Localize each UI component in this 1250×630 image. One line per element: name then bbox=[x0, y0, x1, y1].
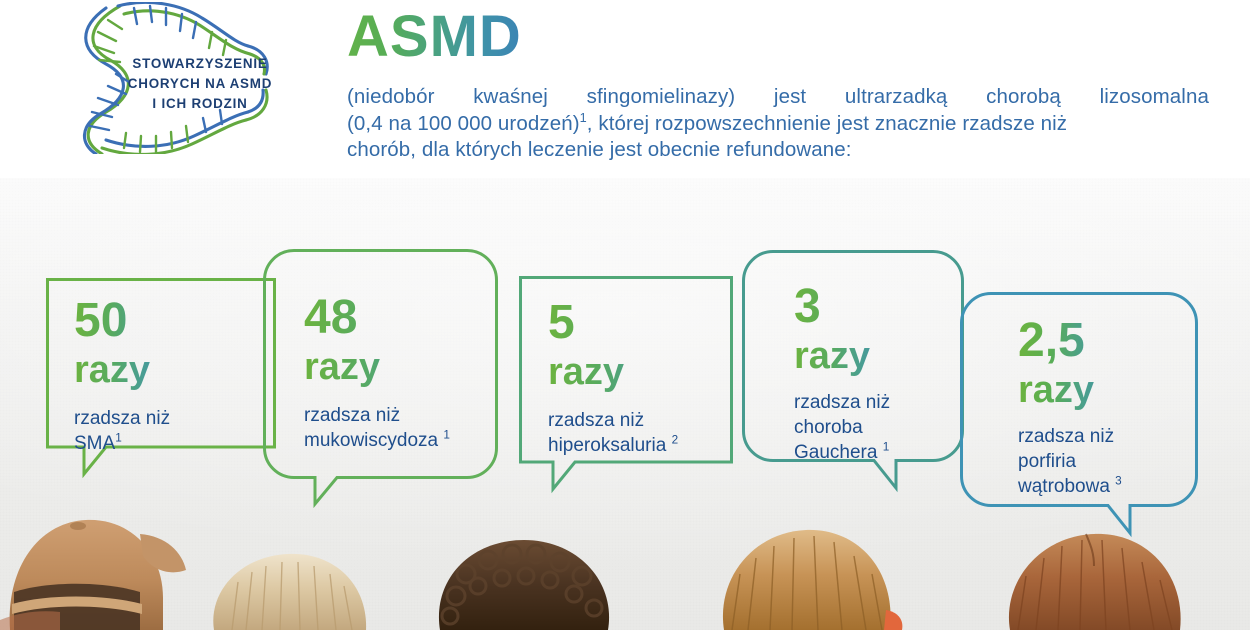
reference-superscript: 1 bbox=[115, 432, 122, 445]
reference-superscript: 1 bbox=[883, 441, 890, 454]
person-blonde-hair bbox=[213, 554, 366, 630]
intro-line-3: chorób, dla których leczenie jest obecni… bbox=[347, 137, 1209, 164]
person-dark-curly-hair bbox=[439, 540, 609, 630]
stat-bubble-mukowiscydoza[interactable]: 48 razy rzadsza niż mukowiscydoza 1 bbox=[263, 249, 498, 489]
stat-bubble-sma[interactable]: 50 razy rzadsza niż SMA1 bbox=[46, 278, 276, 478]
intro-word: chorobą bbox=[986, 84, 1061, 111]
people-illustration bbox=[0, 470, 1250, 630]
stat-unit: razy bbox=[548, 350, 678, 394]
reference-superscript: 1 bbox=[580, 110, 587, 125]
stat-unit: razy bbox=[304, 345, 450, 389]
intro-word: sfingomielinazy) bbox=[587, 84, 736, 111]
stat-unit: razy bbox=[1018, 368, 1122, 412]
person-auburn-hair bbox=[1009, 534, 1181, 630]
stat-unit: razy bbox=[794, 334, 890, 378]
stat-unit: razy bbox=[74, 348, 170, 392]
person-tan-cap bbox=[0, 520, 186, 630]
infographic-root: STOWARZYSZENIE CHORYCH NA ASMD I ICH ROD… bbox=[0, 0, 1250, 630]
intro-word: kwaśnej bbox=[473, 84, 548, 111]
logo-line-3: I ICH RODZIN bbox=[124, 94, 276, 114]
stat-number: 5 bbox=[548, 298, 678, 348]
stat-description: rzadsza niż SMA1 bbox=[74, 406, 170, 456]
reference-superscript: 1 bbox=[443, 429, 450, 442]
page-title: ASMD bbox=[347, 6, 522, 68]
person-light-brown-hair bbox=[723, 530, 902, 630]
intro-paragraph: (niedobórkwaśnejsfingomielinazy)jestultr… bbox=[347, 84, 1209, 164]
stat-description: rzadsza niż hiperoksaluria 2 bbox=[548, 408, 678, 458]
logo-line-2: CHORYCH NA ASMD bbox=[124, 74, 276, 94]
people-photo-strip bbox=[0, 470, 1250, 630]
stat-number: 48 bbox=[304, 293, 450, 343]
intro-word: lizosomalna bbox=[1100, 84, 1209, 111]
stat-bubble-hiperoksaluria[interactable]: 5 razy rzadsza niż hiperoksaluria 2 bbox=[519, 276, 733, 491]
stat-bubble-gauchera[interactable]: 3 razy rzadsza niż choroba Gauchera 1 bbox=[742, 250, 964, 472]
logo-line-1: STOWARZYSZENIE bbox=[124, 54, 276, 74]
stat-number: 50 bbox=[74, 296, 170, 346]
stat-description: rzadsza niż choroba Gauchera 1 bbox=[794, 390, 890, 465]
stat-number: 3 bbox=[794, 282, 890, 332]
intro-word: jest bbox=[774, 84, 806, 111]
stat-number: 2,5 bbox=[1018, 316, 1122, 366]
intro-line-2: (0,4 na 100 000 urodzeń)1, której rozpow… bbox=[347, 111, 1209, 138]
reference-superscript: 2 bbox=[672, 434, 679, 447]
association-logo: STOWARZYSZENIE CHORYCH NA ASMD I ICH ROD… bbox=[62, 2, 277, 154]
intro-line-1: (niedobórkwaśnejsfingomielinazy)jestultr… bbox=[347, 84, 1209, 111]
stat-description: rzadsza niż mukowiscydoza 1 bbox=[304, 403, 450, 453]
intro-word: ultrarzadką bbox=[845, 84, 948, 111]
intro-word: (niedobór bbox=[347, 84, 435, 111]
